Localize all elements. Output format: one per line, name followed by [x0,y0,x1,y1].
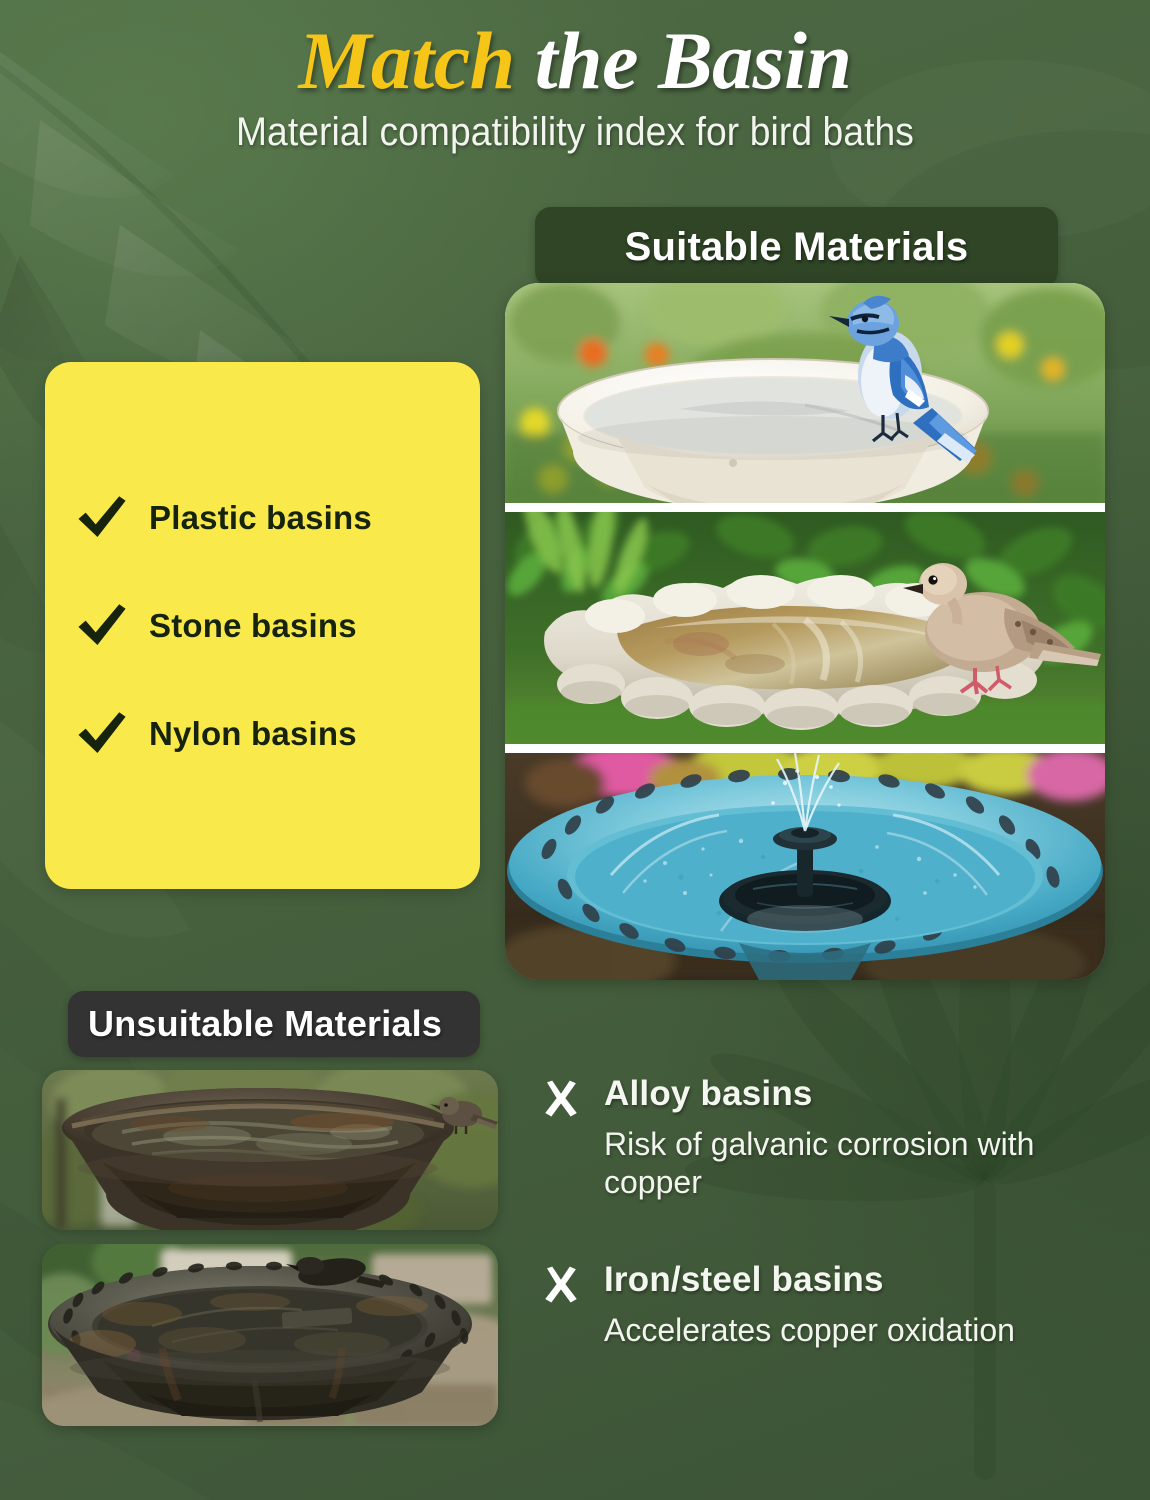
list-item: Plastic basins [73,464,480,572]
x-icon [540,1264,582,1306]
suitable-item-label: Stone basins [149,607,357,645]
unsuitable-materials-badge: Unsuitable Materials [68,991,480,1057]
unsuitable-materials-badge-label: Unsuitable Materials [88,1003,442,1045]
suitable-item-label: Plastic basins [149,499,372,537]
photo-corroded-iron-birdbath [42,1244,498,1426]
title-accent-word: Match [299,15,515,106]
suitable-materials-badge: Suitable Materials [535,207,1058,287]
unsuitable-item-description: Risk of galvanic corrosion with copper [604,1126,1124,1202]
infographic-page: Match the Basin Material compatibility i… [0,0,1150,1500]
unsuitable-item-title: Alloy basins [604,1074,813,1114]
unsuitable-item-description: Accelerates copper oxidation [604,1312,1124,1350]
check-icon [73,489,131,547]
photo-rusty-metal-bowl-birdbath [42,1070,498,1230]
list-item: Nylon basins [73,680,480,788]
page-subtitle: Material compatibility index for bird ba… [40,110,1110,155]
photo-stone-scalloped-birdbath-with-mourning-dove [505,512,1105,744]
unsuitable-item-header: Iron/steel basins [540,1260,1125,1306]
x-icon [540,1078,582,1120]
page-title: Match the Basin [0,18,1150,104]
suitable-photo-stack [505,283,1105,980]
list-item: Iron/steel basins Accelerates copper oxi… [540,1260,1125,1350]
unsuitable-photo-stack [42,1070,498,1426]
check-icon [73,597,131,655]
unsuitable-item-header: Alloy basins [540,1074,1125,1120]
unsuitable-materials-list: Alloy basins Risk of galvanic corrosion … [540,1074,1125,1371]
title-main-word: the Basin [535,15,852,106]
check-icon [73,705,131,763]
suitable-item-label: Nylon basins [149,715,357,753]
header: Match the Basin Material compatibility i… [0,18,1150,155]
list-item: Stone basins [73,572,480,680]
unsuitable-item-title: Iron/steel basins [604,1260,884,1300]
suitable-materials-badge-label: Suitable Materials [625,225,969,270]
suitable-materials-card: Plastic basins Stone basins Nylon basins [45,362,480,889]
list-item: Alloy basins Risk of galvanic corrosion … [540,1074,1125,1202]
photo-white-ceramic-birdbath-with-blue-jay [505,283,1105,503]
photo-teal-glass-birdbath-with-solar-fountain [505,753,1105,980]
